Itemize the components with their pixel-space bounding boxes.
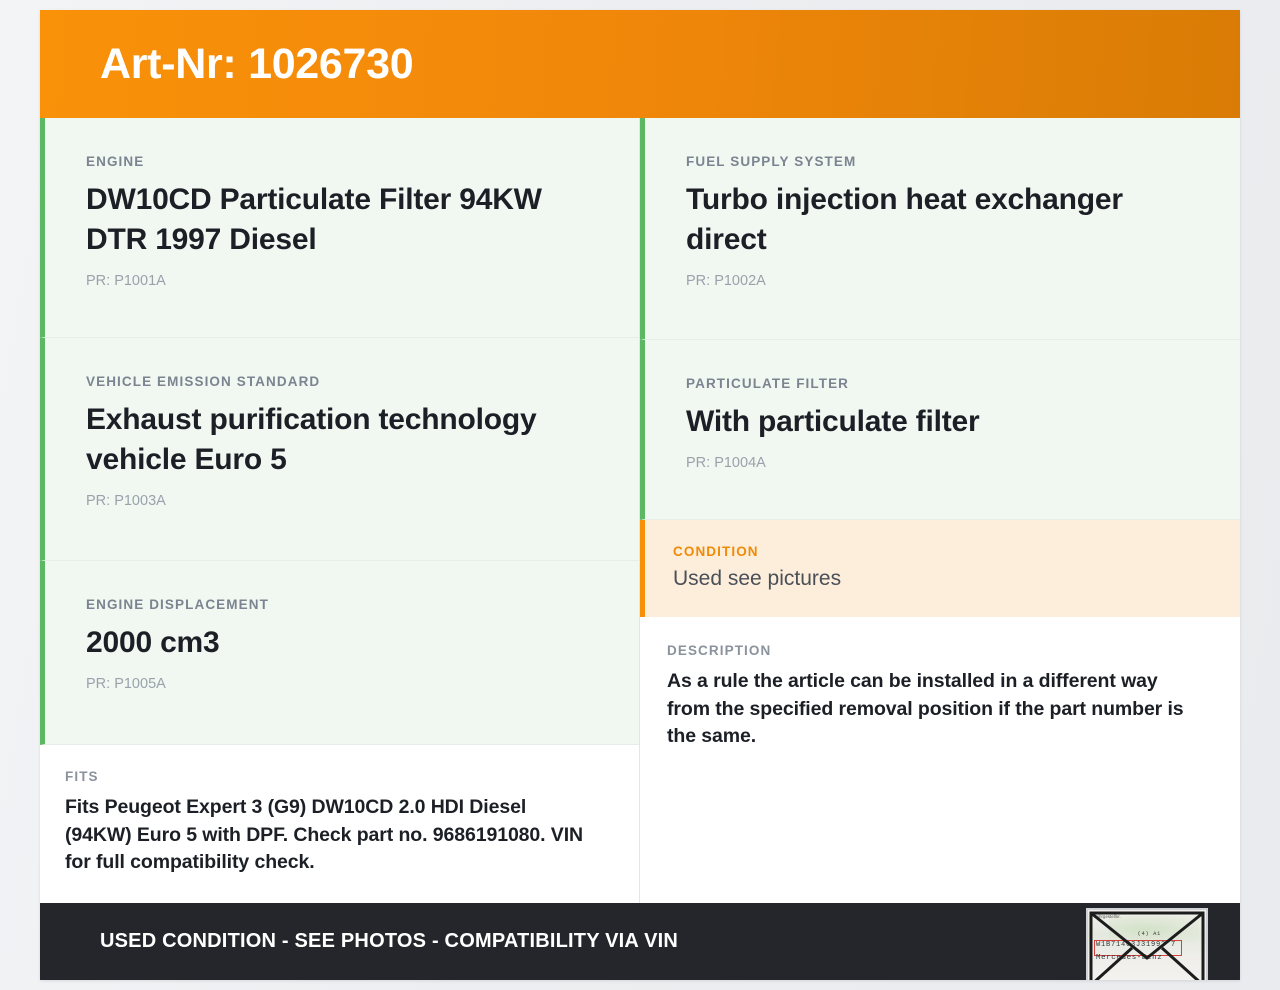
spec-grid: Engine DW10CD Particulate Filter 94KW DT…	[40, 118, 1240, 903]
spec-value: With particulate filter	[686, 402, 1196, 442]
fits-section: Fits Fits Peugeot Expert 3 (G9) DW10CD 2…	[40, 745, 639, 903]
spec-pr-code: PR: P1004A	[686, 455, 1196, 471]
condition-value: Used see pictures	[673, 566, 1196, 592]
spec-card-engine-displacement: Engine displacement 2000 cm3 PR: P1005A	[40, 561, 639, 745]
spec-pr-code: PR: P1002A	[686, 273, 1196, 289]
envelope-icon	[1088, 910, 1206, 980]
spec-value: Turbo injection heat exchanger direct	[686, 180, 1196, 260]
spec-label: Particulate filter	[686, 376, 1196, 391]
page-title: Art-Nr: 1026730	[100, 43, 413, 86]
spec-card-fuel-supply-system: Fuel supply system Turbo injection heat …	[640, 118, 1240, 340]
spec-value: 2000 cm3	[86, 623, 595, 663]
description-text: As a rule the article can be installed i…	[667, 668, 1196, 751]
spec-label: Engine	[86, 154, 595, 169]
fits-text: Fits Peugeot Expert 3 (G9) DW10CD 2.0 HD…	[65, 794, 595, 877]
spec-pr-code: PR: P1005A	[86, 676, 595, 692]
part-listing-card: Art-Nr: 1026730 Engine DW10CD Particulat…	[40, 10, 1240, 980]
header-bar: Art-Nr: 1026730	[40, 10, 1240, 118]
description-section: Description As a rule the article can be…	[640, 617, 1240, 777]
left-column: Engine DW10CD Particulate Filter 94KW DT…	[40, 118, 640, 903]
right-column-spacer	[640, 777, 1240, 903]
spec-card-vehicle-emission-standard: Vehicle emission standard Exhaust purifi…	[40, 338, 639, 561]
spec-card-particulate-filter: Particulate filter With particulate filt…	[640, 340, 1240, 520]
condition-label: Condition	[673, 544, 1196, 559]
condition-card: Condition Used see pictures	[640, 520, 1240, 617]
spec-pr-code: PR: P1001A	[86, 273, 595, 289]
spec-card-engine: Engine DW10CD Particulate Filter 94KW DT…	[40, 118, 639, 338]
fits-label: Fits	[65, 769, 595, 784]
description-label: Description	[667, 643, 1196, 658]
footer-text: USED CONDITION - SEE PHOTOS - COMPATIBIL…	[100, 930, 678, 953]
spec-label: Engine displacement	[86, 597, 595, 612]
footer-bar: USED CONDITION - SEE PHOTOS - COMPATIBIL…	[40, 903, 1240, 980]
spec-value: DW10CD Particulate Filter 94KW DTR 1997 …	[86, 180, 595, 260]
spec-pr-code: PR: P1003A	[86, 493, 595, 509]
spec-label: Fuel supply system	[686, 154, 1196, 169]
spec-label: Vehicle emission standard	[86, 374, 595, 389]
spec-value: Exhaust purification technology vehicle …	[86, 400, 595, 480]
vin-document-thumbnail[interactable]: Fahrgestellnr. (4) A1 W1B71463J31992 7 M…	[1086, 908, 1208, 980]
right-column: Fuel supply system Turbo injection heat …	[640, 118, 1240, 903]
